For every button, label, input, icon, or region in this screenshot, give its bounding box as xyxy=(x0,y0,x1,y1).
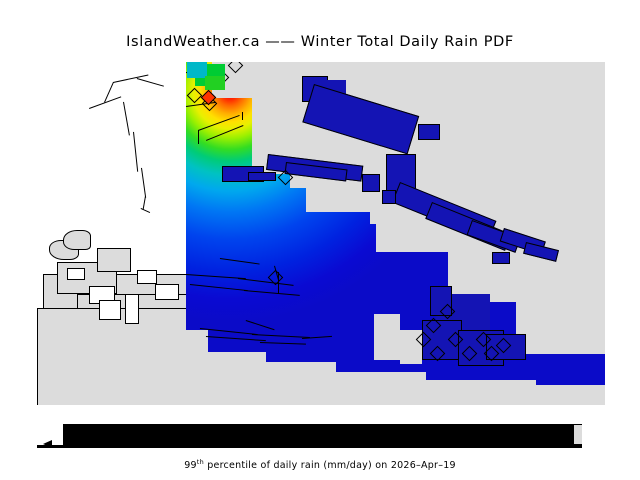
nodata-bay-6 xyxy=(67,268,85,280)
coastline-stroke-3 xyxy=(198,130,199,144)
coastline-stroke-9 xyxy=(200,328,258,335)
caption-superscript: th xyxy=(197,458,204,466)
land-mass-channel-gap-1 xyxy=(374,314,400,360)
nodata-land-6 xyxy=(37,308,186,405)
rainfall-data-field xyxy=(186,62,605,385)
nodata-bay-5 xyxy=(155,284,179,300)
land-mass-island-south-d xyxy=(326,372,426,385)
inlet-hotspot-green-b xyxy=(205,76,225,90)
inlet-small-round-a xyxy=(362,174,380,192)
nodata-bay-3 xyxy=(125,294,139,324)
nodata-region xyxy=(37,62,186,405)
colorbar-tail-swatch xyxy=(574,425,582,444)
land-mass-island-south-e xyxy=(416,380,536,385)
coastline-stroke-8 xyxy=(244,290,300,296)
coastline-stroke-2 xyxy=(206,125,243,141)
colorbar-legend[interactable] xyxy=(37,424,582,446)
land-mass-shelf-step-6 xyxy=(490,62,530,302)
coastline-stroke-17 xyxy=(246,320,275,330)
nodata-coastline-8 xyxy=(143,196,146,210)
nodata-coastline-6 xyxy=(133,132,138,172)
caption-suffix: percentile of daily rain (mm/day) on 202… xyxy=(204,460,456,471)
map-panel xyxy=(37,62,605,405)
coastline-stroke-4 xyxy=(242,112,243,120)
colorbar-caption: 99th percentile of daily rain (mm/day) o… xyxy=(0,458,640,471)
colorbar-gradient[interactable] xyxy=(63,424,582,445)
coastline-stroke-7 xyxy=(190,284,248,291)
colorbar-arrow-icon xyxy=(43,440,52,448)
inlet-small-round-b xyxy=(382,190,396,204)
coastline-stroke-12 xyxy=(260,342,306,345)
nodata-bay-4 xyxy=(137,270,157,284)
land-mass-island-south-a xyxy=(186,330,208,385)
inlet-small-oval-west-tail xyxy=(248,172,276,181)
inlet-small-round-c xyxy=(492,252,510,264)
coastline-stroke-11 xyxy=(206,336,266,341)
nodata-coastline-9 xyxy=(141,208,151,213)
inlet-long-northwest-tip xyxy=(418,124,440,140)
land-mass-island-south-c xyxy=(246,362,336,385)
nodata-bay-2 xyxy=(99,300,121,320)
nodata-coastline-5 xyxy=(123,102,130,136)
nodata-coastline-7 xyxy=(141,168,146,198)
nodata-land-7 xyxy=(97,248,131,272)
inlet-hotspot-cyan-a xyxy=(187,62,207,78)
coastline-stroke-6 xyxy=(238,278,294,286)
nodata-land-2 xyxy=(63,230,91,250)
coastline-stroke-19 xyxy=(220,258,260,265)
caption-prefix: 99 xyxy=(184,460,197,471)
page-title: IslandWeather.ca —— Winter Total Daily R… xyxy=(0,34,640,50)
nodata-coastline-2 xyxy=(137,78,164,87)
nodata-coastline-1 xyxy=(113,75,148,83)
colorbar-axis-line xyxy=(37,445,582,448)
land-mass-shelf-step-7 xyxy=(530,62,605,330)
